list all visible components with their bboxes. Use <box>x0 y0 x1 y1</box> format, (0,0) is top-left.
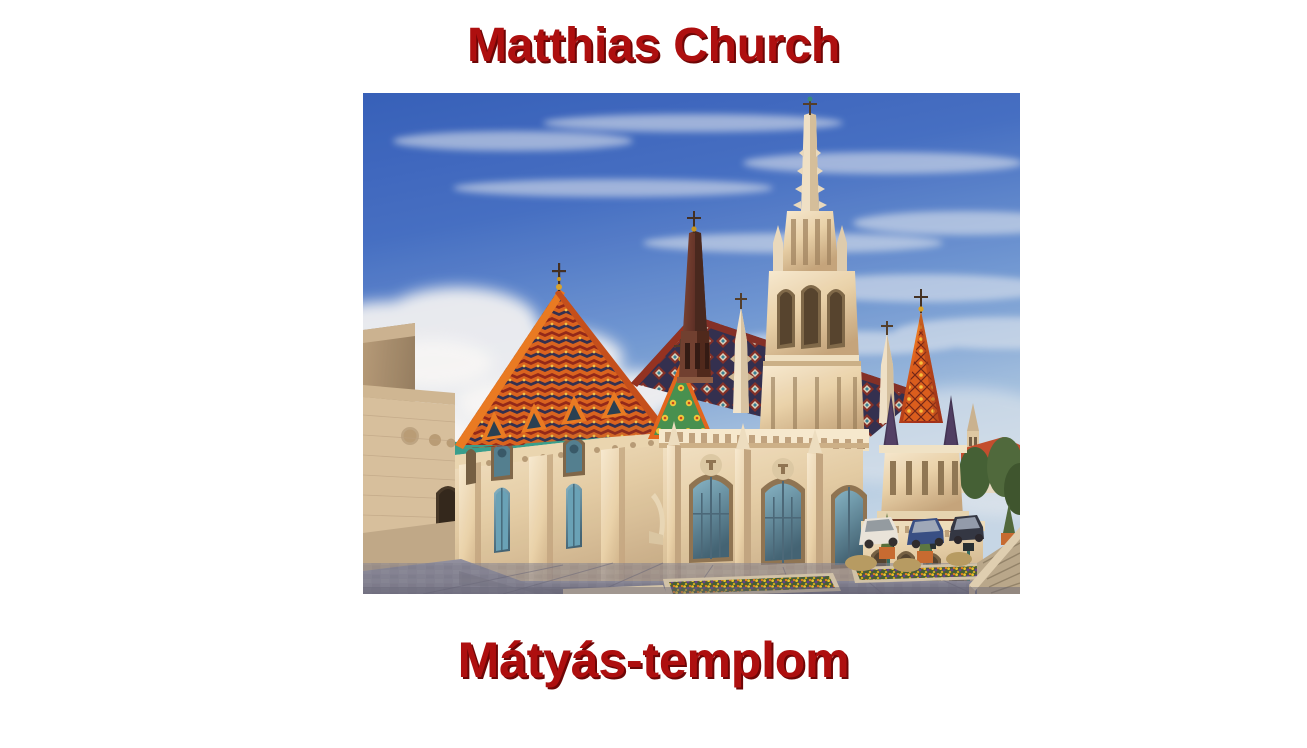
church-photo <box>363 93 1020 594</box>
page-title: Matthias Church <box>0 22 1307 70</box>
page-caption: Mátyás-templom <box>0 635 1307 685</box>
slide-canvas: Matthias Church <box>0 0 1307 748</box>
church-photo-graphic <box>363 93 1020 594</box>
